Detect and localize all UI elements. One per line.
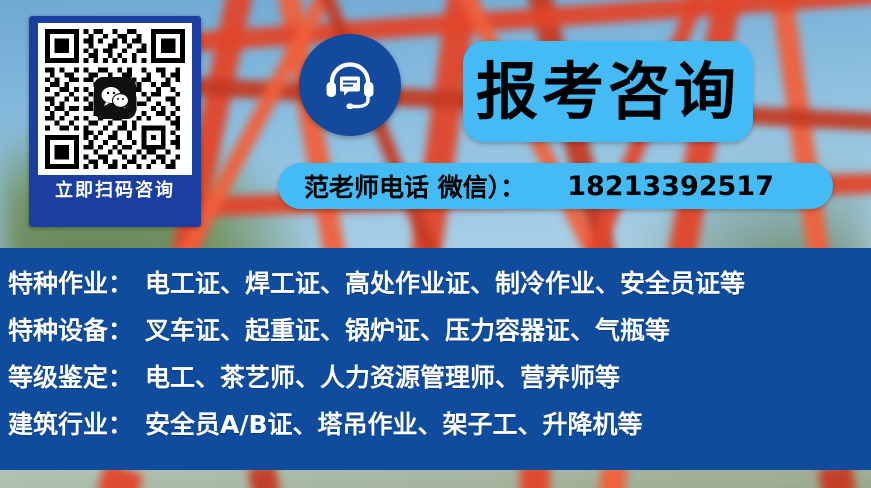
page-title: 报考咨询 [476,61,740,123]
service-category: 特种作业： [8,269,133,298]
contact-label: 范老师电话 微信）： [304,168,525,204]
service-category: 特种设备： [8,316,133,345]
service-items: 电工、茶艺师、人力资源管理师、营养师等 [145,363,620,392]
qr-label: 立即扫码咨询 [55,181,175,199]
headset-glyph [319,54,381,116]
promo-poster: 立即扫码咨询 报考咨询 范老师电话 微信）： 18213392517 特种作业：… [0,0,871,488]
services-panel: 特种作业：电工证、焊工证、高处作业证、制冷作业、安全员证等 特种设备：叉车证、起… [0,248,871,470]
headset-support-icon [299,34,401,136]
service-items: 安全员A/B证、塔吊作业、架子工、升降机等 [145,410,643,439]
service-category: 等级鉴定： [8,363,133,392]
contact-bar[interactable]: 范老师电话 微信）： 18213392517 [278,163,833,209]
service-row: 等级鉴定：电工、茶艺师、人力资源管理师、营养师等 [8,354,871,401]
service-row: 特种设备：叉车证、起重证、锅炉证、压力容器证、气瓶等 [8,307,871,354]
consultation-title-badge: 报考咨询 [463,41,753,142]
contact-number[interactable]: 18213392517 [567,171,774,202]
service-row: 特种作业：电工证、焊工证、高处作业证、制冷作业、安全员证等 [8,260,871,307]
service-items: 电工证、焊工证、高处作业证、制冷作业、安全员证等 [145,269,745,298]
wechat-icon [94,77,136,119]
qr-code-image[interactable] [38,23,192,175]
service-category: 建筑行业： [8,410,133,439]
service-items: 叉车证、起重证、锅炉证、压力容器证、气瓶等 [145,316,670,345]
wechat-glyph [100,85,130,111]
service-row: 建筑行业：安全员A/B证、塔吊作业、架子工、升降机等 [8,401,871,448]
qr-card[interactable]: 立即扫码咨询 [29,16,201,227]
